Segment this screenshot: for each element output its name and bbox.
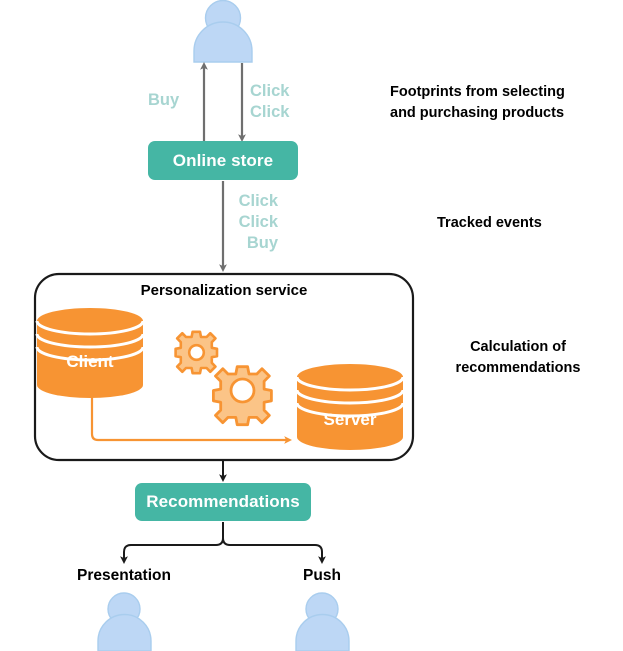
server-database-label: Server — [297, 410, 403, 430]
shopper-person-icon — [194, 1, 252, 63]
annotation-footprints-line-1: Footprints from selecting — [390, 82, 565, 102]
arrow-recommendations-to-push — [223, 522, 322, 560]
output-label-presentation: Presentation — [24, 567, 224, 585]
server-database-icon[interactable] — [297, 364, 403, 450]
annotation-footprints-line-2: and purchasing products — [390, 103, 564, 123]
tracked-flow-label-click-1: Click — [230, 190, 278, 212]
output-label-push: Push — [272, 567, 372, 585]
arrow-recommendations-to-presentation — [124, 522, 223, 560]
personalization-service-title: Personalization service — [35, 282, 413, 299]
client-database-label: Client — [37, 352, 143, 372]
push-person-icon — [296, 593, 349, 651]
annotation-calculation-line-2: recommendations — [413, 358, 623, 378]
annotation-calculation-line-1: Calculation of — [413, 337, 623, 357]
presentation-person-icon — [98, 593, 151, 651]
diagram-canvas: Online store Recommendations Buy Click C… — [0, 0, 623, 651]
tracked-flow-label-buy: Buy — [230, 232, 278, 254]
flow-label-click-2: Click — [250, 101, 289, 123]
annotation-tracked-events: Tracked events — [437, 213, 542, 233]
tracked-flow-label-click-2: Click — [230, 211, 278, 233]
online-store-label: Online store — [148, 141, 298, 180]
flow-label-click-1: Click — [250, 80, 289, 102]
flow-label-buy: Buy — [148, 89, 179, 111]
recommendations-label: Recommendations — [135, 483, 311, 521]
